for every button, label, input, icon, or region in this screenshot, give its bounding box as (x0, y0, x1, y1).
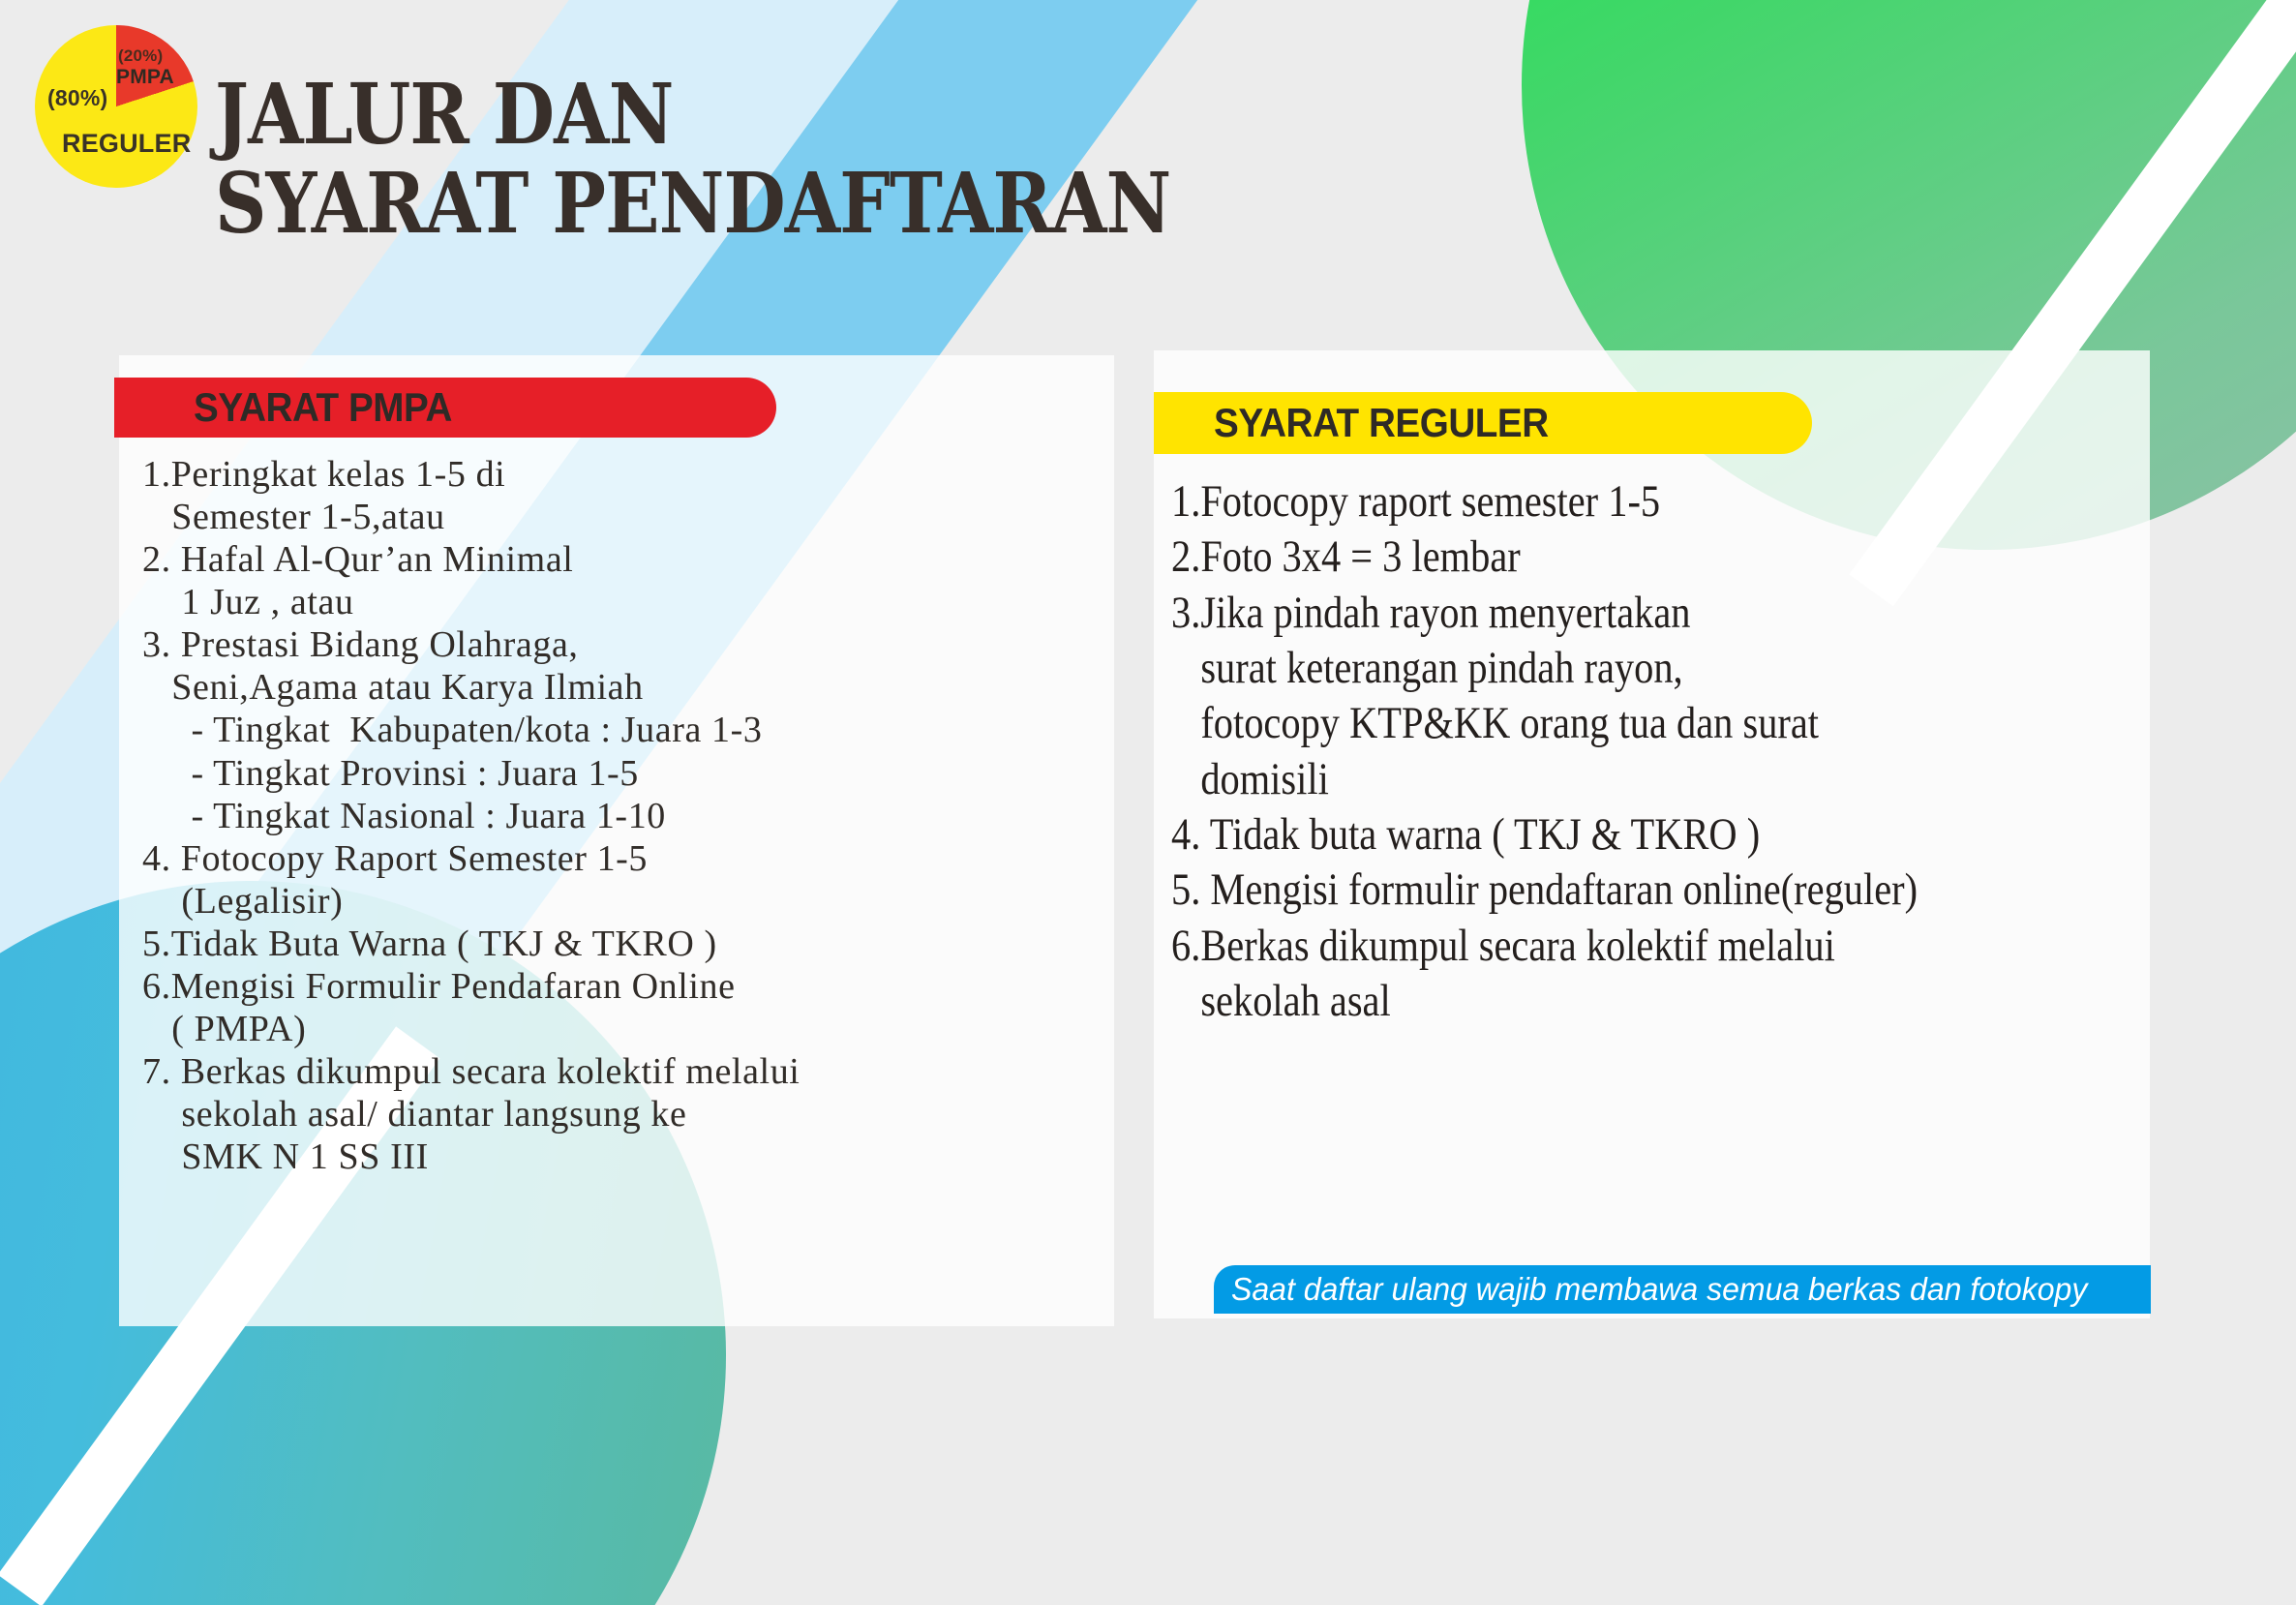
footer-note-text: Saat daftar ulang wajib membawa semua be… (1231, 1271, 2087, 1308)
list-item: 4. Fotocopy Raport Semester 1-5 (142, 837, 1091, 880)
list-item: fotocopy KTP&KK orang tua dan surat (1171, 696, 2012, 751)
list-item: surat keterangan pindah rayon, (1171, 641, 2012, 696)
left-panel-header-label: SYARAT PMPA (194, 384, 452, 431)
list-item: 6.Mengisi Formulir Pendafaran Online (142, 965, 1091, 1008)
list-item: - Tingkat Provinsi : Juara 1-5 (142, 752, 1091, 795)
list-item: - Tingkat Kabupaten/kota : Juara 1-3 (142, 709, 1091, 751)
list-item: 2.Foto 3x4 = 3 lembar (1171, 530, 2012, 585)
right-panel-header-label: SYARAT REGULER (1214, 400, 1549, 446)
footer-note-banner: Saat daftar ulang wajib membawa semua be… (1214, 1265, 2151, 1314)
list-item: 1.Fotocopy raport semester 1-5 (1171, 474, 2012, 530)
right-panel-requirements-list: 1.Fotocopy raport semester 1-52.Foto 3x4… (1171, 474, 2012, 1029)
pie-chart: (20%) PMPA (80%) REGULER (35, 25, 197, 188)
left-panel-requirements-list: 1.Peringkat kelas 1-5 di Semester 1-5,at… (142, 453, 1091, 1178)
list-item: SMK N 1 SS III (142, 1136, 1091, 1178)
list-item: Seni,Agama atau Karya Ilmiah (142, 666, 1091, 709)
list-item: 5.Tidak Buta Warna ( TKJ & TKRO ) (142, 923, 1091, 965)
list-item: 7. Berkas dikumpul secara kolektif melal… (142, 1050, 1091, 1093)
pie-label-reguler-percent: (80%) (47, 85, 107, 111)
pie-label-reguler-name: REGULER (62, 129, 191, 159)
list-item: (Legalisir) (142, 880, 1091, 923)
page-title: JALUR DAN SYARAT PENDAFTARAN (215, 76, 1170, 243)
page-title-line-2: SYARAT PENDAFTARAN (215, 165, 1170, 244)
page-title-line-1: JALUR DAN (215, 76, 1170, 155)
list-item: sekolah asal (1171, 974, 2012, 1029)
list-item: 1.Peringkat kelas 1-5 di (142, 453, 1091, 496)
list-item: 3.Jika pindah rayon menyertakan (1171, 586, 2012, 641)
left-panel-header-pill: SYARAT PMPA (114, 378, 776, 438)
right-panel-header-pill: SYARAT REGULER (1154, 392, 1812, 454)
list-item: 3. Prestasi Bidang Olahraga, (142, 623, 1091, 666)
list-item: sekolah asal/ diantar langsung ke (142, 1093, 1091, 1136)
list-item: - Tingkat Nasional : Juara 1-10 (142, 795, 1091, 837)
list-item: 5. Mengisi formulir pendaftaran online(r… (1171, 863, 2012, 918)
list-item: Semester 1-5,atau (142, 496, 1091, 538)
list-item: 2. Hafal Al-Qur’an Minimal (142, 538, 1091, 581)
list-item: 1 Juz , atau (142, 581, 1091, 623)
list-item: 6.Berkas dikumpul secara kolektif melalu… (1171, 919, 2012, 974)
pie-label-pmpa-name: PMPA (116, 66, 174, 89)
list-item: domisili (1171, 752, 2012, 807)
pie-label-pmpa-percent: (20%) (118, 46, 163, 66)
list-item: ( PMPA) (142, 1008, 1091, 1050)
list-item: 4. Tidak buta warna ( TKJ & TKRO ) (1171, 807, 2012, 863)
poster-root: (20%) PMPA (80%) REGULER JALUR DAN SYARA… (0, 0, 2296, 1605)
